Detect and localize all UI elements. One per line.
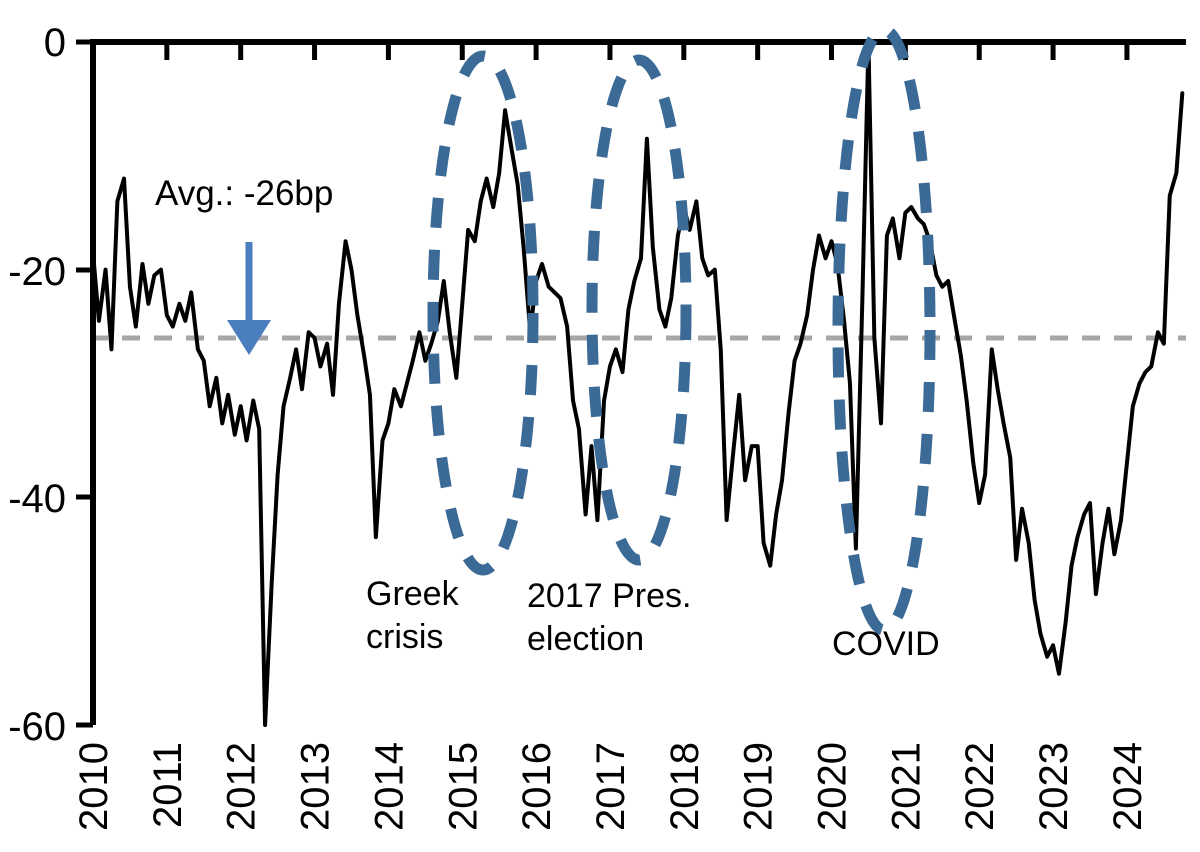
x-axis-label-2024: 2024 bbox=[1106, 742, 1150, 831]
annotation-pres-election-line2: election bbox=[527, 620, 644, 658]
x-axis-label-2018: 2018 bbox=[663, 742, 707, 831]
chart-container: 0 -20 -40 -60 20102011201220132014201520… bbox=[0, 0, 1200, 852]
x-axis-label-2016: 2016 bbox=[515, 742, 559, 831]
x-axis-label-2023: 2023 bbox=[1032, 742, 1076, 831]
y-axis-label-minus40: -40 bbox=[8, 477, 66, 521]
x-axis-label-2014: 2014 bbox=[367, 742, 411, 831]
x-axis-label-2017: 2017 bbox=[589, 742, 633, 831]
x-axis-label-2019: 2019 bbox=[737, 742, 781, 831]
x-axis-label-2021: 2021 bbox=[884, 742, 928, 831]
x-axis-label-2013: 2013 bbox=[294, 742, 338, 831]
x-axis-label-2010: 2010 bbox=[72, 742, 116, 831]
average-label: Avg.: -26bp bbox=[155, 174, 333, 213]
annotation-covid-line1: COVID bbox=[832, 625, 940, 663]
line-chart: 0 -20 -40 -60 20102011201220132014201520… bbox=[0, 0, 1200, 852]
annotation-pres-election-line1: 2017 Pres. bbox=[527, 577, 691, 615]
annotation-covid: COVID bbox=[832, 625, 940, 663]
x-axis-label-2020: 2020 bbox=[811, 742, 855, 831]
annotation-greek-crisis-line2: crisis bbox=[366, 618, 443, 656]
x-axis-labels: 2010201120122013201420152016201720182019… bbox=[72, 742, 1150, 831]
chart-background bbox=[0, 0, 1200, 852]
x-axis-label-2011: 2011 bbox=[146, 742, 190, 828]
y-axis-label-minus60: -60 bbox=[8, 705, 66, 749]
x-axis-label-2015: 2015 bbox=[441, 742, 485, 831]
annotation-greek-crisis-line1: Greek bbox=[366, 575, 460, 613]
y-axis-label-minus20: -20 bbox=[8, 250, 66, 294]
y-axis-label-0: 0 bbox=[44, 21, 66, 65]
x-axis-label-2012: 2012 bbox=[220, 742, 264, 831]
x-axis-label-2022: 2022 bbox=[958, 742, 1002, 831]
